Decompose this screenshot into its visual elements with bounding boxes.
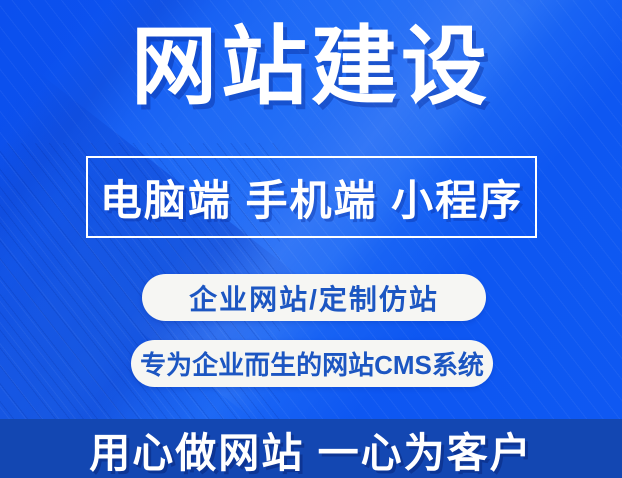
service-pill-cms-system-label: 专为企业而生的网站CMS系统 (140, 345, 484, 382)
banner-content: 网站建设 电脑端 手机端 小程序 企业网站/定制仿站 专为企业而生的网站CMS系… (0, 0, 622, 478)
service-pill-cms-system[interactable]: 专为企业而生的网站CMS系统 (131, 340, 493, 387)
promo-banner: 网站建设 电脑端 手机端 小程序 企业网站/定制仿站 专为企业而生的网站CMS系… (0, 0, 622, 478)
service-pill-enterprise-site-label: 企业网站/定制仿站 (189, 278, 439, 318)
platform-list-text: 电脑端 手机端 小程序 (88, 158, 535, 236)
footer-slogan-text: 用心做网站 一心为客户 (0, 419, 622, 478)
footer-slogan-band: 用心做网站 一心为客户 (0, 419, 622, 478)
platform-list-box: 电脑端 手机端 小程序 (86, 156, 537, 238)
headline-title: 网站建设 (0, 24, 622, 110)
service-pill-enterprise-site[interactable]: 企业网站/定制仿站 (142, 274, 486, 321)
